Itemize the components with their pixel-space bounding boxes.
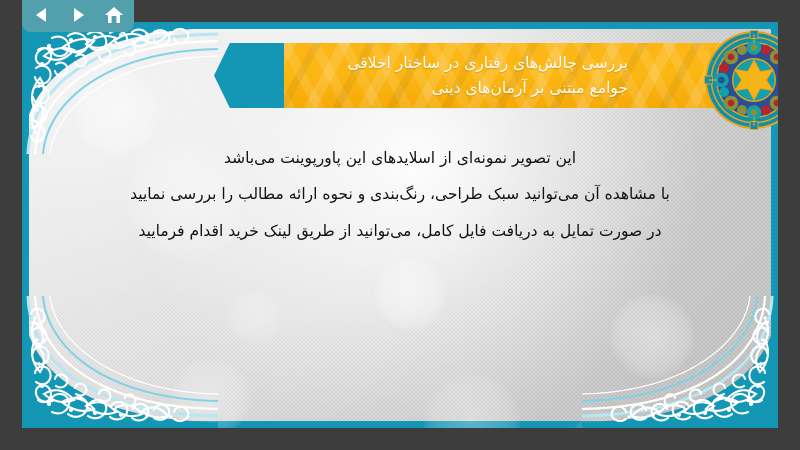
previous-slide-button[interactable] xyxy=(29,2,55,28)
home-icon xyxy=(104,6,124,25)
body-line-2: با مشاهده آن می‌توانید سبک طراحی، رنگ‌بن… xyxy=(29,176,771,212)
navigation-toolbar xyxy=(22,0,134,32)
presentation-viewer: بررسی چالش‌های رفتاری در ساختار اخلاقی ج… xyxy=(0,0,800,450)
slide-body-text: این تصویر نمونه‌ای از اسلایدهای این پاور… xyxy=(29,140,771,249)
triangle-left-icon xyxy=(33,6,51,24)
home-button[interactable] xyxy=(101,2,127,28)
slide-title-line-2: جوامع مبتنی بر آرمان‌های دینی xyxy=(432,76,628,100)
slide-title-line-1: بررسی چالش‌های رفتاری در ساختار اخلاقی xyxy=(347,51,628,75)
banner-body: بررسی چالش‌های رفتاری در ساختار اخلاقی ج… xyxy=(284,43,724,108)
next-slide-button[interactable] xyxy=(65,2,91,28)
slide-canvas: بررسی چالش‌های رفتاری در ساختار اخلاقی ج… xyxy=(22,22,778,428)
banner-arrow-tail xyxy=(214,43,286,108)
body-line-3: در صورت تمایل به دریافت فایل کامل، می‌تو… xyxy=(29,213,771,249)
body-line-1: این تصویر نمونه‌ای از اسلایدهای این پاور… xyxy=(29,140,771,176)
slide-title-banner: بررسی چالش‌های رفتاری در ساختار اخلاقی ج… xyxy=(204,22,724,108)
triangle-right-icon xyxy=(69,6,87,24)
